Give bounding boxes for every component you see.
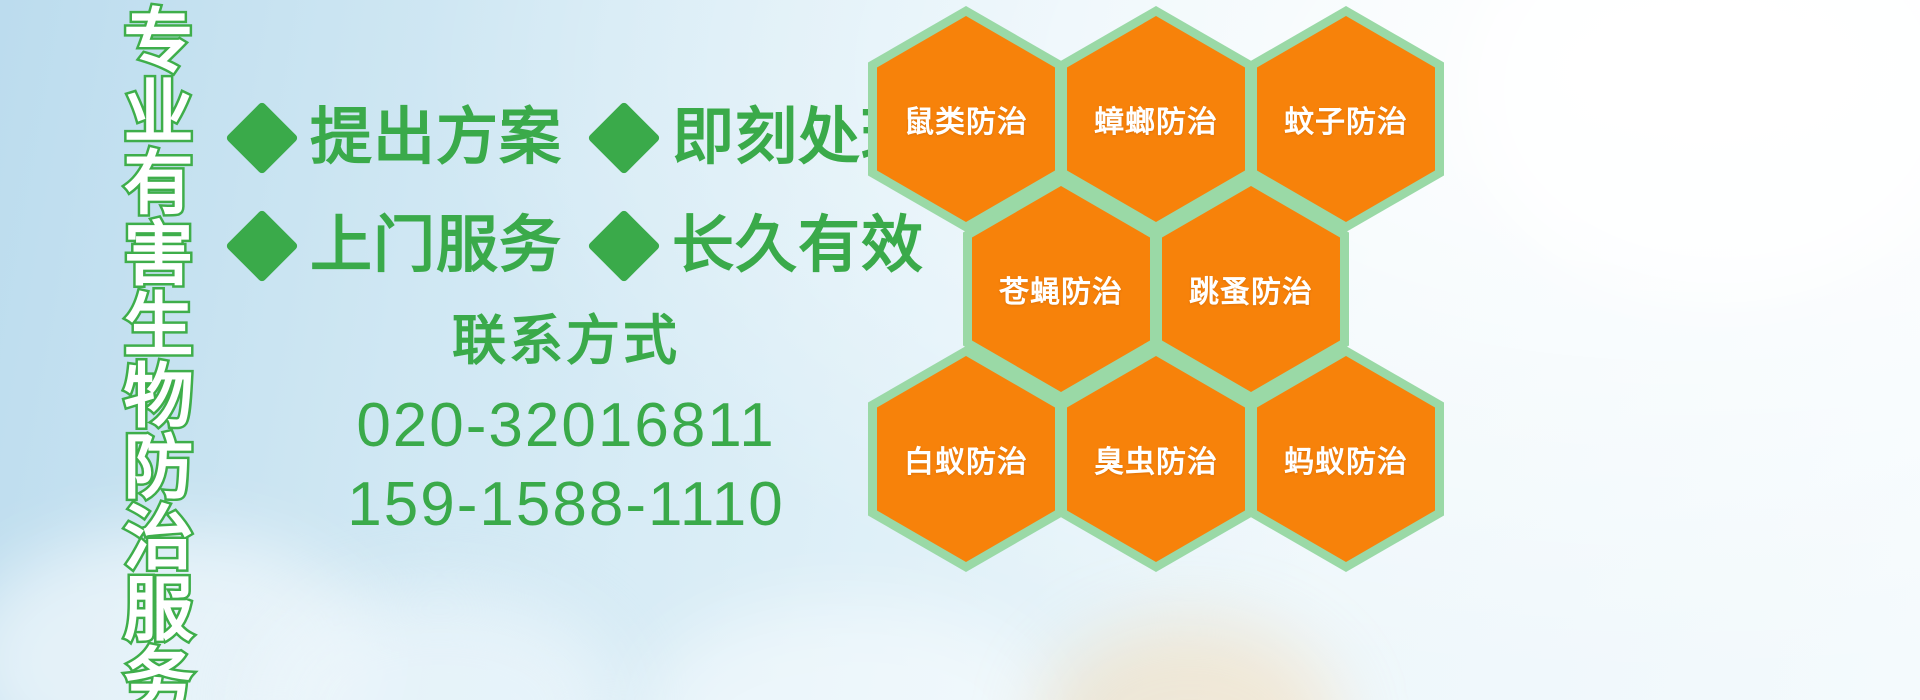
service-hexagon-label: 臭虫防治 [1094, 437, 1218, 481]
contact-block: 联系方式 020-32016811 159-1588-1110 [236, 310, 896, 545]
service-hexagon-label: 蟑螂防治 [1094, 97, 1218, 141]
service-hexagon-label: 白蚁防治 [904, 437, 1028, 481]
contact-phone-landline[interactable]: 020-32016811 [236, 386, 896, 465]
service-honeycomb: 鼠类防治 蟑螂防治 蚊子防治 苍蝇防治 跳蚤防治 白蚁防治 臭虫防治 [862, 0, 1462, 560]
diamond-bullet-icon [225, 101, 299, 175]
service-hexagon-label: 跳蚤防治 [1189, 267, 1313, 311]
service-hexagon-label: 蚂蚁防治 [1284, 437, 1408, 481]
feature-item: 提出方案 [236, 107, 562, 169]
feature-row: 提出方案 即刻处理 [236, 84, 876, 192]
diamond-bullet-icon [225, 209, 299, 283]
contact-title: 联系方式 [236, 310, 896, 372]
diamond-bullet-icon [587, 209, 661, 283]
background-blur-blob [640, 600, 1060, 700]
contact-phone-mobile[interactable]: 159-1588-1110 [236, 465, 896, 544]
service-hexagon-label: 蚊子防治 [1284, 97, 1408, 141]
service-hexagon-label: 鼠类防治 [904, 97, 1028, 141]
feature-label: 提出方案 [310, 107, 562, 169]
feature-item: 上门服务 [236, 215, 562, 277]
background-blur-blob [260, 590, 620, 700]
banner-stage: 专业有害生物防治服务 提出方案 即刻处理 上门服务 长久有效 联 [0, 0, 1920, 700]
feature-list: 提出方案 即刻处理 上门服务 长久有效 [236, 84, 876, 300]
diamond-bullet-icon [587, 101, 661, 175]
background-blur-blob [1040, 620, 1340, 700]
background-blur-blob [1460, 0, 1920, 300]
feature-label: 上门服务 [310, 215, 562, 277]
service-hexagon-label: 苍蝇防治 [999, 267, 1123, 311]
feature-row: 上门服务 长久有效 [236, 192, 876, 300]
vertical-headline: 专业有害生物防治服务 [104, 4, 188, 564]
